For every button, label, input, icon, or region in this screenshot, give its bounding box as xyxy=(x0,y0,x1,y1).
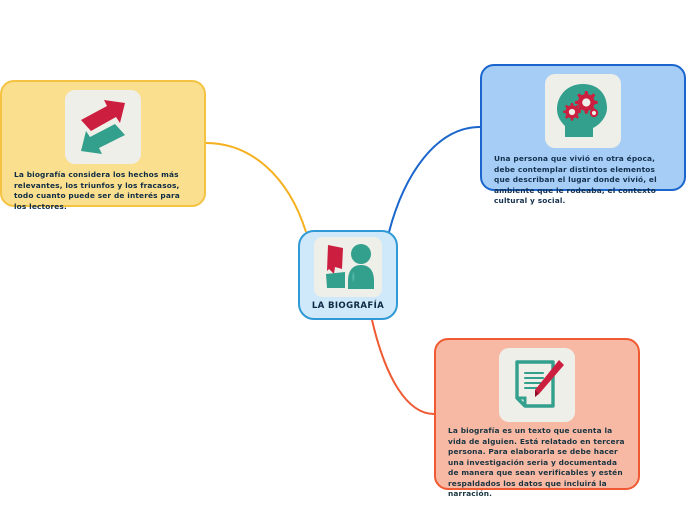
node-text-considerations: La biografía considera los hechos más re… xyxy=(2,170,204,212)
connector-definition xyxy=(372,320,434,414)
book-and-person-icon xyxy=(314,237,382,297)
node-text-context: Una persona que vivió en otra época, deb… xyxy=(482,154,684,207)
document-with-pencil-icon xyxy=(499,348,575,422)
mindmap-canvas: La biografía considera los hechos más re… xyxy=(0,0,696,520)
central-node-label: LA BIOGRAFÍA xyxy=(300,301,396,311)
connector-context xyxy=(389,127,480,232)
central-node[interactable]: LA BIOGRAFÍA xyxy=(298,230,398,320)
two-arrows-exchange-icon xyxy=(65,90,141,164)
branch-node-context[interactable]: Una persona que vivió en otra época, deb… xyxy=(480,64,686,191)
connector-considerations xyxy=(206,143,306,232)
branch-node-considerations[interactable]: La biografía considera los hechos más re… xyxy=(0,80,206,207)
branch-node-definition[interactable]: La biografía es un texto que cuenta la v… xyxy=(434,338,640,490)
head-with-gears-icon xyxy=(545,74,621,148)
node-text-definition: La biografía es un texto que cuenta la v… xyxy=(436,426,638,500)
